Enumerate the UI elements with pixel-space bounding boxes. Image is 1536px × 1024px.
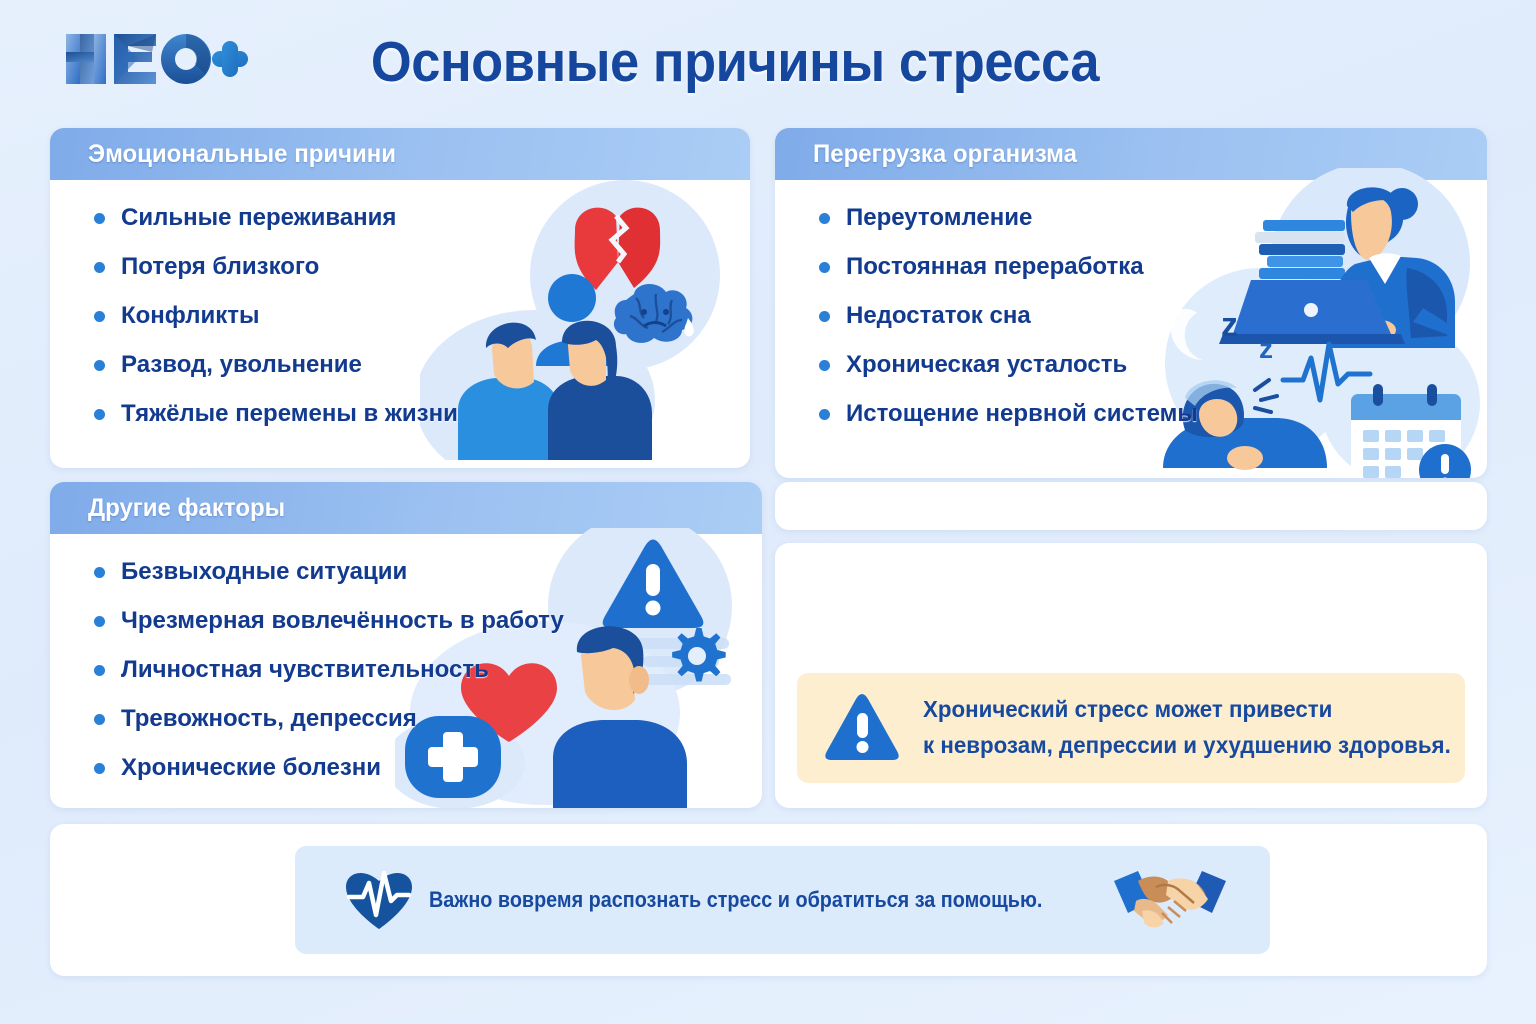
list-item-label: Истощение нервной системы — [846, 400, 1198, 428]
bullet-dot — [94, 567, 105, 578]
list-item-label: Хронические болезни — [121, 754, 381, 782]
warning-callout-line-2: к неврозам, депрессии и ухудшению здоров… — [923, 728, 1451, 764]
list-item: Недостаток сна — [775, 302, 1487, 330]
bullet-dot — [94, 360, 105, 371]
list-item: Конфликты — [50, 302, 750, 330]
list-item: Развод, увольнение — [50, 351, 750, 379]
list-item: Чрезмерная вовлечённость в работу — [50, 607, 762, 635]
list-item-label: Потеря близкого — [121, 253, 319, 281]
bullet-dot — [94, 665, 105, 676]
list-item-label: Хроническая усталость — [846, 351, 1127, 379]
card-body-emotional-causes: Сильные переживания Потеря близкого Конф… — [50, 180, 750, 468]
neo-plus-logo — [60, 24, 250, 94]
card-footer: Важно вовремя распознать стресс и обрати… — [50, 824, 1487, 976]
list-body-overload: Переутомление Постоянная переработка Нед… — [775, 204, 1487, 428]
bullet-dot — [819, 360, 830, 371]
warning-callout: Хронический стресс может привести к невр… — [797, 673, 1465, 783]
bullet-dot — [94, 409, 105, 420]
bullet-dot — [94, 262, 105, 273]
spacer-card — [775, 482, 1487, 530]
list-item: Безвыходные ситуации — [50, 558, 762, 586]
card-header-emotional-causes: Эмоциональные причини — [50, 128, 750, 180]
bullet-dot — [94, 714, 105, 725]
card-chronic-stress-warning: Хронический стресс может привести к невр… — [775, 543, 1487, 808]
list-item-label: Постоянная переработка — [846, 253, 1144, 281]
list-item: Сильные переживания — [50, 204, 750, 232]
card-body-other-factors: Безвыходные ситуации Чрезмерная вовлечён… — [50, 534, 762, 808]
list-item-label: Сильные переживания — [121, 204, 396, 232]
bullet-dot — [94, 213, 105, 224]
warning-callout-line-1: Хронический стресс может привести — [923, 692, 1451, 728]
card-header-other-factors: Другие факторы — [50, 482, 762, 534]
list-item: Истощение нервной системы — [775, 400, 1487, 428]
card-other-factors: Другие факторы — [50, 482, 762, 808]
list-item-label: Тревожность, депрессия — [121, 705, 417, 733]
list-item-label: Чрезмерная вовлечённость в работу — [121, 607, 564, 635]
card-body-overload: Перегрузка организма — [775, 128, 1487, 478]
list-item-label: Развод, увольнение — [121, 351, 362, 379]
card-header-body-overload: Перегрузка организма — [775, 128, 1487, 180]
card-body-body-overload: z z — [775, 180, 1487, 478]
bullet-dot — [819, 262, 830, 273]
list-item: Тревожность, депрессия — [50, 705, 762, 733]
list-item-label: Тяжёлые перемены в жизни — [121, 400, 458, 428]
page-header: Основные причины стресса — [0, 0, 1536, 118]
list-item: Потеря близкого — [50, 253, 750, 281]
list-item: Хронические болезни — [50, 754, 762, 782]
list-item-label: Конфликты — [121, 302, 259, 330]
list-item-label: Недостаток сна — [846, 302, 1031, 330]
handshake-icon — [1112, 861, 1228, 940]
bullet-dot — [94, 616, 105, 627]
bullet-dot — [819, 311, 830, 322]
list-item: Тяжёлые перемены в жизни — [50, 400, 750, 428]
bullet-dot — [94, 763, 105, 774]
card-emotional-causes: Эмоциональные причини — [50, 128, 750, 468]
list-item-label: Безвыходные ситуации — [121, 558, 407, 586]
list-item: Хроническая усталость — [775, 351, 1487, 379]
list-item-label: Личностная чувствительность — [121, 656, 489, 684]
bullet-dot — [819, 409, 830, 420]
card-title-emotional-causes: Эмоциональные причини — [88, 140, 396, 169]
card-title-other-factors: Другие факторы — [88, 494, 285, 523]
list-item: Личностная чувствительность — [50, 656, 762, 684]
list-item: Постоянная переработка — [775, 253, 1487, 281]
bullet-dot — [819, 213, 830, 224]
bullet-dot — [94, 311, 105, 322]
list-item-label: Переутомление — [846, 204, 1032, 232]
list-item: Переутомление — [775, 204, 1487, 232]
card-title-body-overload: Перегрузка организма — [813, 140, 1077, 169]
footer-banner: Важно вовремя распознать стресс и обрати… — [295, 846, 1270, 954]
list-other-factors: Безвыходные ситуации Чрезмерная вовлечён… — [50, 558, 762, 782]
warning-callout-text: Хронический стресс может привести к невр… — [923, 692, 1451, 763]
heart-pulse-icon — [343, 865, 415, 936]
footer-text: Важно вовремя распознать стресс и обрати… — [429, 887, 1042, 913]
page-title: Основные причины стресса — [385, 22, 1084, 102]
warning-triangle-icon — [823, 691, 901, 766]
list-emotional-causes: Сильные переживания Потеря близкого Конф… — [50, 204, 750, 428]
